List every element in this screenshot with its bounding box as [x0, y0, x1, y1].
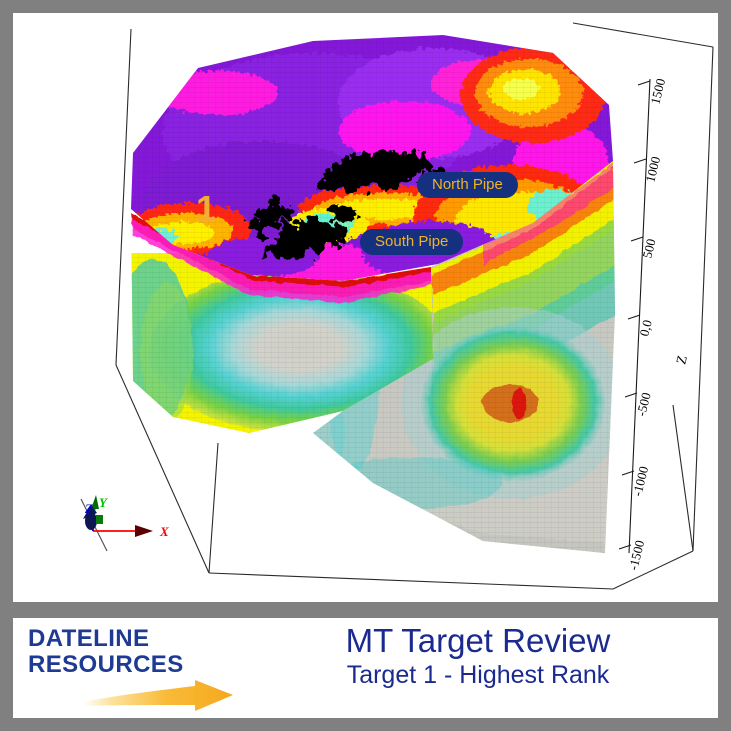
logo-line-1: DATELINE — [28, 625, 149, 652]
annotation-south-pipe: South Pipe — [360, 229, 463, 255]
footer-titles: MT Target Review Target 1 - Highest Rank — [253, 622, 703, 690]
figure-root: 1500 1000 500 0,0 -500 -1000 -1500 Z — [0, 0, 731, 731]
company-logo: DATELINE RESOURCES — [28, 626, 248, 712]
triad-x-axis: X — [93, 524, 169, 539]
z-axis-label: Z — [674, 354, 691, 366]
logo-arrow-icon — [83, 680, 233, 714]
orientation-triad: X Y Z — [81, 495, 169, 551]
triad-y-label: Y — [99, 495, 108, 510]
logo-line-2: RESOURCES — [28, 652, 248, 678]
logo-wordmark: DATELINE RESOURCES — [28, 626, 248, 678]
footer-bar: DATELINE RESOURCES MT Target Review Targ… — [13, 618, 718, 718]
target-number-label: 1 — [196, 191, 216, 227]
model-3d-view: 1500 1000 500 0,0 -500 -1000 -1500 Z — [13, 13, 718, 602]
page-title: MT Target Review — [253, 622, 703, 660]
z-tick-minus1500: -1500 — [625, 539, 647, 572]
z-tick-1500: 1500 — [647, 77, 668, 106]
z-axis: 1500 1000 500 0,0 -500 -1000 -1500 Z — [619, 77, 691, 572]
plot-panel: 1500 1000 500 0,0 -500 -1000 -1500 Z — [13, 13, 718, 602]
z-tick-500: 500 — [639, 237, 658, 260]
panel-separator — [13, 602, 718, 616]
page-subtitle: Target 1 - Highest Rank — [253, 660, 703, 690]
triad-x-label: X — [159, 524, 169, 539]
annotation-north-pipe: North Pipe — [417, 172, 518, 198]
z-tick-0: 0,0 — [636, 318, 654, 337]
